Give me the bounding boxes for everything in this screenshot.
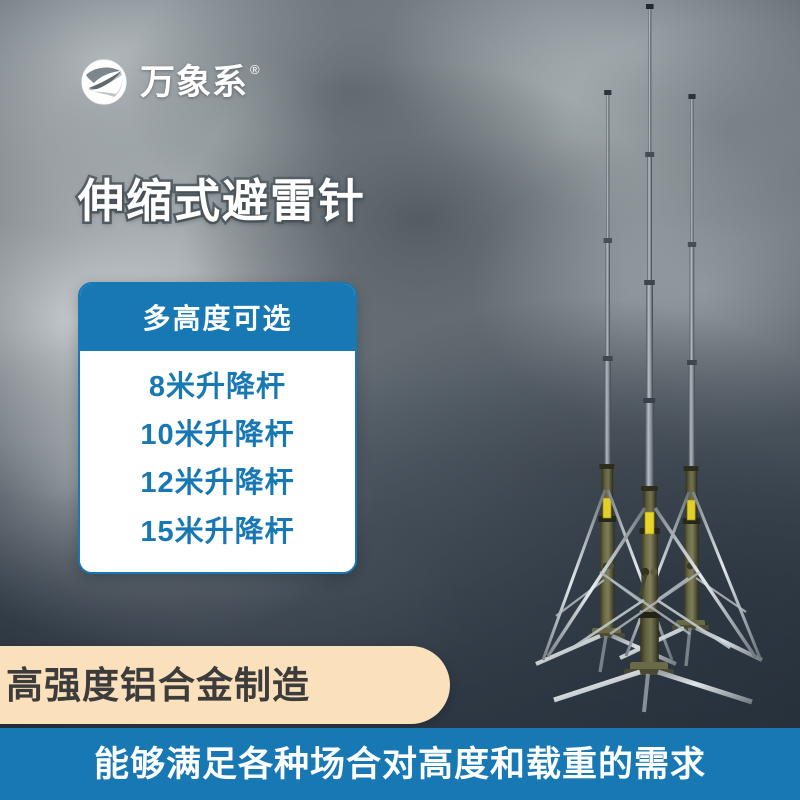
mast-center: [548, 4, 756, 712]
brand-name: 万象系: [140, 65, 248, 100]
footer-banner: 能够满足各种场合对高度和载重的需求: [0, 728, 800, 800]
material-banner-label: 高强度铝合金制造: [6, 667, 310, 704]
material-banner: 高强度铝合金制造: [0, 646, 450, 724]
page-title: 伸缩式避雷针: [78, 175, 366, 228]
brand-logo: 万象系 ®: [80, 58, 260, 106]
card-header-label: 多高度可选: [80, 284, 355, 351]
list-item: 10米升降杆: [80, 411, 355, 459]
list-item: 8米升降杆: [80, 363, 355, 411]
height-options-card: 多高度可选 8米升降杆 10米升降杆 12米升降杆 15米升降杆: [78, 282, 357, 574]
height-options-list: 8米升降杆 10米升降杆 12米升降杆 15米升降杆: [80, 351, 355, 572]
swirl-sphere-logo-icon: [80, 58, 128, 106]
footer-banner-label: 能够满足各种场合对高度和载重的需求: [94, 747, 706, 782]
list-item: 15米升降杆: [80, 508, 355, 556]
product-poster: 万象系 ® 伸缩式避雷针 多高度可选 8米升降杆 10米升降杆 12米升降杆 1…: [0, 0, 800, 800]
list-item: 12米升降杆: [80, 459, 355, 507]
registered-trademark-symbol: ®: [250, 63, 260, 76]
